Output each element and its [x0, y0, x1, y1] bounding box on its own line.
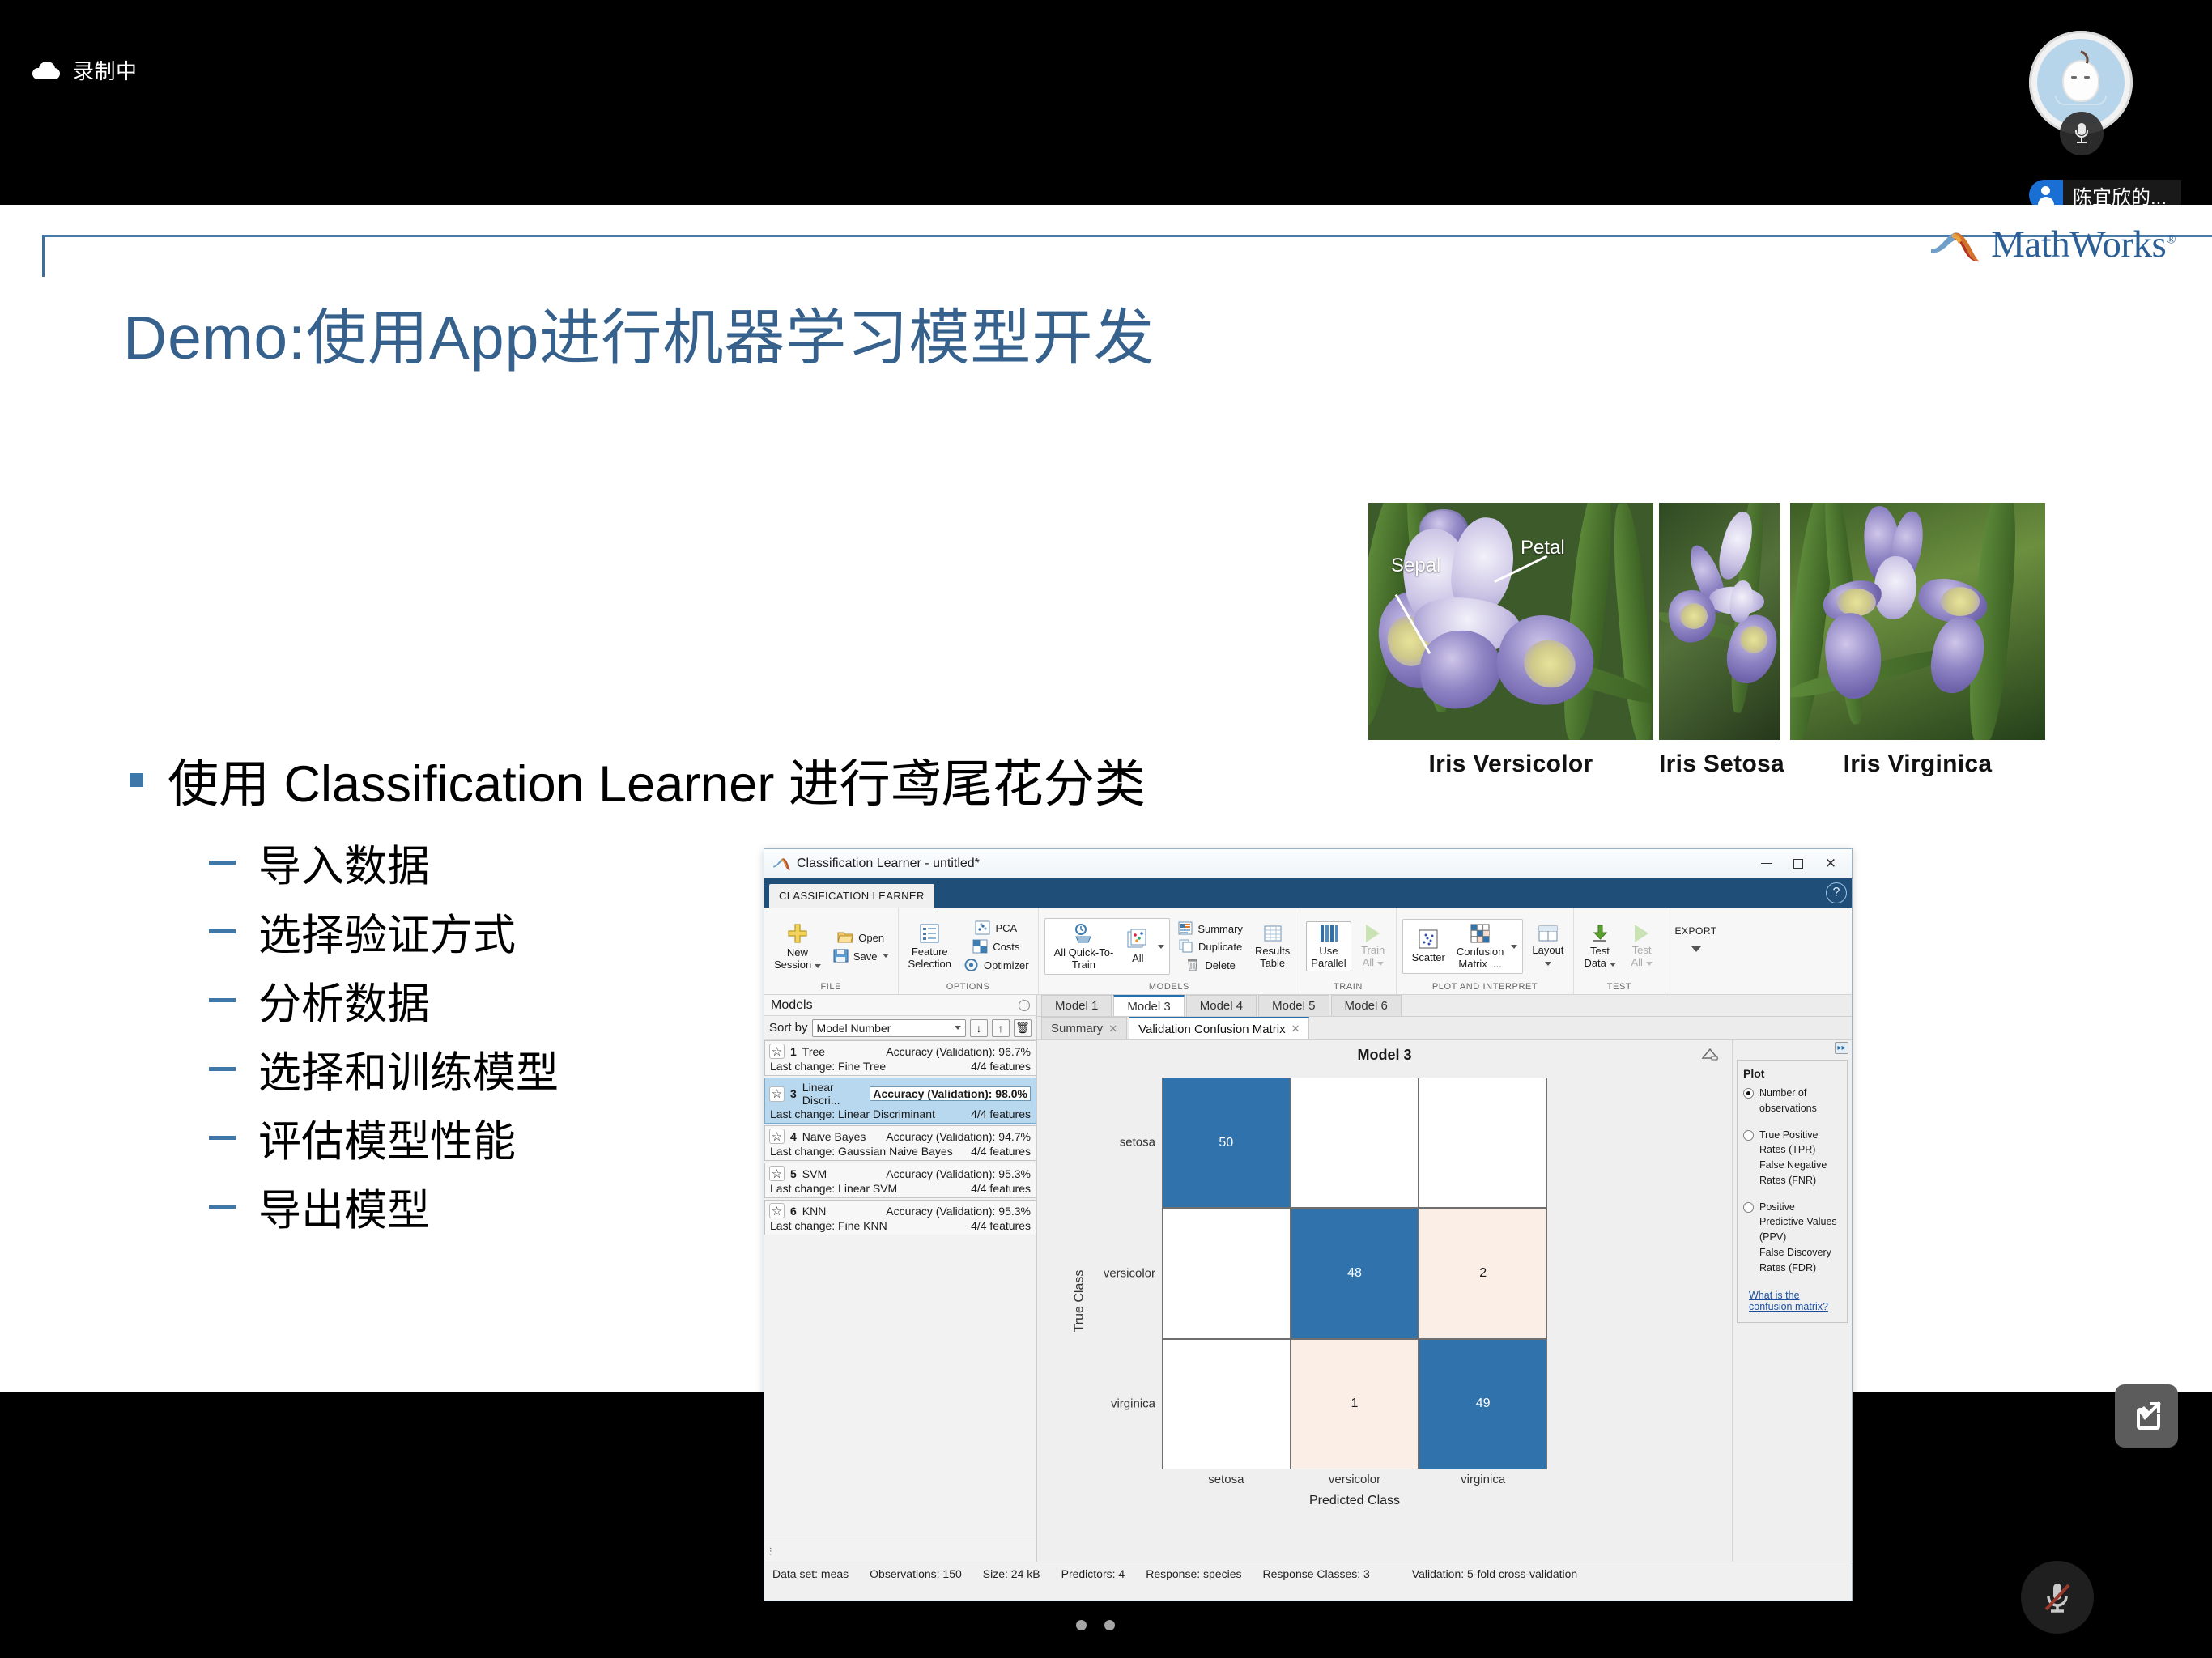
train-all-label: TrainAll [1361, 945, 1385, 968]
model-features: 4/4 features [971, 1145, 1031, 1158]
tab-validation-confusion-matrix[interactable]: Validation Confusion Matrix ✕ [1129, 1017, 1309, 1039]
pca-scatter-icon [975, 920, 990, 935]
page-title: Demo:使用App进行机器学习模型开发 [123, 288, 1155, 376]
radio-tpr-fnr[interactable]: True Positive Rates (TPR) False Negative… [1743, 1128, 1841, 1188]
star-outline-icon[interactable]: ☆ [769, 1086, 785, 1102]
ribbon-group-options: FeatureSelection PCA [899, 908, 1039, 994]
results-table-button[interactable]: ResultsTable [1251, 922, 1294, 971]
sort-by-label: Sort by [769, 1021, 808, 1035]
tab-label: Validation Confusion Matrix [1138, 1022, 1285, 1036]
xtick: versicolor [1291, 1473, 1419, 1486]
radio-number-of-observations[interactable]: Number of observations [1743, 1086, 1841, 1116]
annotate-button[interactable] [2115, 1384, 2178, 1448]
iris-card: Iris Setosa [1659, 503, 1784, 778]
petal-annotation: Petal [1521, 537, 1565, 559]
model-accuracy: Accuracy (Validation): 95.3% [886, 1167, 1031, 1180]
model-accuracy: Accuracy (Validation): 96.7% [886, 1045, 1031, 1058]
model-accuracy: Accuracy (Validation): 98.0% [870, 1086, 1031, 1101]
duplicate-icon [1179, 939, 1193, 953]
ribbon-group-train: UseParallel TrainAll TRAIN [1300, 908, 1396, 994]
star-outline-icon[interactable]: ☆ [769, 1203, 785, 1218]
sort-by-select[interactable]: Model Number [812, 1019, 966, 1037]
ribbon-group-name: OPTIONS [904, 982, 1032, 994]
model-name: Naive Bayes [802, 1130, 880, 1143]
status-dataset: Data set: meas [772, 1567, 849, 1580]
sort-ascending-button[interactable]: ↑ [992, 1019, 1010, 1037]
model-last-change: Last change: Linear Discriminant [770, 1107, 971, 1120]
recording-indicator: 录制中 [32, 55, 138, 85]
ribbon: NewSession Open [764, 908, 1852, 995]
dash-bullet-icon [209, 1067, 236, 1071]
window-title: Classification Learner - untitled* [797, 857, 1750, 871]
test-all-label: TestAll [1631, 945, 1652, 968]
ytick: setosa [1120, 1136, 1155, 1150]
status-response-classes: Response Classes: 3 [1263, 1567, 1370, 1580]
use-parallel-label: UseParallel [1311, 946, 1346, 969]
plot-options-panel: ▸▸ Plot Number of observations [1732, 1040, 1852, 1562]
delete-button[interactable]: Delete [1175, 957, 1246, 973]
dash-bullet-icon [209, 929, 236, 933]
tab-label: Summary [1051, 1022, 1103, 1035]
sort-descending-button[interactable]: ↓ [970, 1019, 988, 1037]
optimizer-button[interactable]: Optimizer [960, 957, 1032, 973]
chevron-down-icon[interactable] [1511, 945, 1517, 949]
list-item: 选择验证方式 [209, 897, 559, 966]
sepal-annotation: Sepal [1391, 555, 1440, 577]
ribbon-group-name: TEST [1580, 982, 1658, 994]
iris-card: Sepal Petal Iris Versicolor [1368, 503, 1653, 778]
ribbon-group-test: TestData TestAll TEST [1574, 908, 1665, 994]
summary-button[interactable]: Summary [1175, 920, 1246, 937]
model-accuracy: Accuracy (Validation): 94.7% [886, 1130, 1031, 1143]
model-accuracy: Accuracy (Validation): 95.3% [886, 1205, 1031, 1218]
list-item: 导入数据 [209, 828, 559, 897]
iris-caption: Iris Setosa [1659, 750, 1784, 778]
list-item[interactable]: ☆ 4 Naive Bayes Accuracy (Validation): 9… [764, 1125, 1036, 1161]
list-item-label: 选择验证方式 [258, 901, 516, 963]
new-session-button[interactable]: NewSession [770, 920, 825, 972]
list-item[interactable]: ☆ 6 KNN Accuracy (Validation): 95.3% Las… [764, 1200, 1036, 1235]
model-number: 3 [790, 1087, 797, 1100]
new-session-label: NewSession [774, 947, 821, 971]
iris-virginica-photo [1790, 503, 2045, 740]
ribbon-group-name: PLOT AND INTERPRET [1402, 982, 1568, 994]
model-features: 4/4 features [971, 1182, 1031, 1195]
chart-title: Model 3 [1037, 1047, 1732, 1064]
list-item[interactable]: ☆ 3 Linear Discri... Accuracy (Validatio… [764, 1078, 1036, 1124]
trash-icon[interactable]: 🗑 [1014, 1019, 1032, 1037]
close-icon[interactable]: ✕ [1814, 850, 1847, 878]
export-label: EXPORT [1675, 926, 1717, 937]
dash-bullet-icon [209, 998, 236, 1002]
confusion-matrix-button[interactable]: ConfusionMatrix ... [1453, 921, 1508, 971]
page-dot[interactable] [1104, 1620, 1115, 1630]
radio-label-line1: True Positive Rates (TPR) [1759, 1129, 1818, 1156]
list-item-label: 评估模型性能 [258, 1107, 516, 1169]
mathworks-logo: MathWorks® [1929, 223, 2176, 266]
model-name: Linear Discri... [802, 1081, 865, 1107]
save-button[interactable]: Save [830, 948, 892, 964]
app-workarea: Models Sort by Model Number ↓ ↑ 🗑 [764, 995, 1852, 1562]
radio-label-line1: Positive Predictive Values (PPV) [1759, 1201, 1837, 1243]
all-models-label: All [1132, 953, 1143, 965]
play-icon [1366, 925, 1380, 942]
radio-label-line2: False Discovery Rates (FDR) [1759, 1247, 1831, 1273]
matrix-cell: 2 [1419, 1208, 1547, 1338]
matlab-membrane-icon [772, 857, 790, 871]
export-button[interactable]: EXPORT [1671, 922, 1721, 954]
list-item-label: 导出模型 [258, 1176, 430, 1238]
page-dot[interactable] [1076, 1620, 1087, 1630]
tab-model-3[interactable]: Model 3 [1113, 995, 1184, 1016]
status-response: Response: species [1146, 1567, 1241, 1580]
models-panel: Models Sort by Model Number ↓ ↑ 🗑 [764, 995, 1037, 1562]
document-area: Model 1 Model 3 Model 4 Model 5 Model 6 … [1037, 995, 1852, 1562]
star-outline-icon[interactable]: ☆ [769, 1166, 785, 1181]
microphone-icon [2060, 112, 2104, 155]
radio-icon [1743, 1130, 1754, 1141]
chevron-down-icon [955, 1026, 961, 1030]
confusion-matrix-icon [1469, 923, 1491, 944]
radio-icon [1743, 1202, 1754, 1213]
document-tabstrip: Summary ✕ Validation Confusion Matrix ✕ [1037, 1017, 1852, 1040]
iris-setosa-photo [1659, 503, 1780, 740]
star-outline-icon[interactable]: ☆ [769, 1129, 785, 1144]
ytick: virginica [1111, 1397, 1155, 1411]
play-icon [1635, 925, 1648, 942]
slide-decorative-frame [42, 235, 2212, 277]
models-sort-bar: Sort by Model Number ↓ ↑ 🗑 [764, 1016, 1036, 1040]
all-models-button[interactable]: All [1121, 926, 1155, 967]
model-last-change: Last change: Linear SVM [770, 1182, 971, 1195]
classification-learner-window: Classification Learner - untitled* ✕ CLA… [764, 848, 1853, 1601]
iris-card: Iris Virginica [1790, 503, 2045, 778]
test-data-button[interactable]: TestData [1580, 922, 1619, 971]
status-validation: Validation: 5-fold cross-validation [1412, 1567, 1577, 1580]
ribbon-group-name: MODELS [1044, 982, 1295, 994]
plot-options-title: Plot [1743, 1067, 1841, 1080]
cloud-icon [32, 62, 60, 79]
model-name: Tree [802, 1045, 880, 1058]
folder-open-icon [837, 930, 853, 944]
list-item[interactable]: ☆ 5 SVM Accuracy (Validation): 95.3% Las… [764, 1163, 1036, 1198]
expand-panel-icon[interactable]: ▸▸ [1835, 1042, 1848, 1054]
confusion-matrix-label: ConfusionMatrix ... [1457, 946, 1504, 970]
chevron-down-icon[interactable] [1691, 946, 1701, 952]
chart-xlabel: Predicted Class [1162, 1494, 1547, 1508]
chart-yticks: setosa versicolor virginica [1071, 1078, 1160, 1469]
collapse-dot-icon[interactable] [1019, 1000, 1030, 1011]
delete-label: Delete [1205, 960, 1236, 972]
mathworks-wordmark: MathWorks® [1991, 223, 2176, 266]
radio-label-line2: False Negative Rates (FNR) [1759, 1159, 1827, 1186]
model-number: 6 [790, 1205, 797, 1218]
test-all-button[interactable]: TestAll [1625, 923, 1659, 970]
close-icon[interactable]: ✕ [1291, 1022, 1300, 1035]
meeting-screen-share: 录制中 陈宜欣的... [0, 0, 2212, 1658]
summary-label: Summary [1197, 924, 1243, 936]
list-item[interactable]: ☆ 1 Tree Accuracy (Validation): 96.7% La… [764, 1040, 1036, 1076]
all-quick-to-train-label: All Quick-To-Train [1054, 947, 1114, 971]
duplicate-button[interactable]: Duplicate [1175, 938, 1246, 954]
chevron-down-icon[interactable] [1158, 945, 1164, 949]
chart-xticks: setosa versicolor virginica [1162, 1473, 1547, 1486]
mute-microphone-button[interactable] [2021, 1561, 2094, 1634]
models-panel-title: Models [771, 998, 1019, 1013]
square-bullet-icon [130, 773, 143, 787]
what-is-confusion-matrix-link[interactable]: What is the confusion matrix? [1749, 1290, 1836, 1312]
help-question-icon[interactable]: ? [1826, 882, 1847, 903]
save-label: Save [853, 951, 878, 963]
optimizer-gear-icon [963, 958, 979, 972]
train-all-button[interactable]: TrainAll [1356, 923, 1390, 970]
ribbon-group-export: EXPORT [1665, 908, 1852, 994]
sub-bullet-list: 导入数据 选择验证方式 分析数据 选择和训练模型 评估模型性能 导出模型 [209, 828, 559, 1241]
test-data-download-icon [1590, 924, 1610, 943]
scatter-button[interactable]: Scatter [1408, 927, 1449, 966]
model-number: 1 [790, 1045, 797, 1058]
sort-by-value: Model Number [817, 1022, 955, 1035]
tab-summary[interactable]: Summary ✕ [1041, 1017, 1127, 1039]
test-data-label: TestData [1584, 946, 1615, 969]
model-tabstrip: Model 1 Model 3 Model 4 Model 5 Model 6 [1037, 995, 1852, 1017]
model-last-change: Last change: Gaussian Naive Bayes [770, 1145, 971, 1158]
list-item-label: 选择和训练模型 [258, 1039, 559, 1100]
bullet-main-label: 使用 Classification Learner 进行鸢尾花分类 [168, 743, 1146, 817]
costs-label: Costs [993, 942, 1019, 954]
iris-caption: Iris Versicolor [1368, 750, 1653, 778]
slide-page-indicator [1076, 1620, 1115, 1630]
matrix-cell: 48 [1291, 1208, 1419, 1338]
export-chart-icon[interactable] [1701, 1047, 1719, 1061]
matrix-cell: 50 [1162, 1078, 1291, 1208]
parallel-bars-icon [1318, 924, 1339, 943]
recording-label: 录制中 [73, 55, 138, 85]
participant-tile[interactable]: 陈宜欣的... [1979, 31, 2181, 209]
list-item-label: 导入数据 [258, 832, 430, 894]
iris-caption: Iris Virginica [1790, 750, 2045, 778]
quick-train-icon [1071, 922, 1095, 945]
matrix-cell [1162, 1339, 1291, 1469]
scatter-plot-icon [1417, 929, 1440, 950]
status-predictors: Predictors: 4 [1061, 1567, 1125, 1580]
feature-selection-button[interactable]: FeatureSelection [904, 921, 955, 971]
ytick: versicolor [1104, 1267, 1155, 1281]
model-number: 4 [790, 1130, 797, 1143]
microphone-muted-icon [2036, 1576, 2078, 1618]
maximize-icon[interactable] [1782, 850, 1814, 878]
model-last-change: Last change: Fine KNN [770, 1219, 971, 1232]
model-name: SVM [802, 1167, 880, 1180]
iris-species-figure: Sepal Petal Iris Versicolor [1368, 503, 2097, 778]
open-button[interactable]: Open [830, 929, 892, 946]
pca-button[interactable]: PCA [960, 920, 1032, 936]
chevron-down-icon[interactable] [883, 954, 889, 958]
xtick: virginica [1419, 1473, 1547, 1486]
tab-model-5[interactable]: Model 5 [1258, 995, 1329, 1016]
results-table-label: ResultsTable [1255, 946, 1290, 969]
iris-versicolor-photo: Sepal Petal [1368, 503, 1653, 740]
list-item: 选择和训练模型 [209, 1035, 559, 1103]
matlab-membrane-icon [1929, 225, 1981, 264]
model-last-change: Last change: Fine Tree [770, 1060, 971, 1073]
plot-area: Model 3 True Class setosa versicolor vir… [1037, 1040, 1852, 1562]
list-item: 分析数据 [209, 966, 559, 1035]
list-item: 评估模型性能 [209, 1103, 559, 1172]
matrix-cell [1291, 1078, 1419, 1208]
duplicate-label: Duplicate [1198, 942, 1242, 954]
all-quick-to-train-button[interactable]: All Quick-To-Train [1050, 920, 1118, 972]
ribbon-tabstrip: CLASSIFICATION LEARNER ? [764, 878, 1852, 908]
pca-label: PCA [995, 923, 1017, 935]
layout-icon [1538, 925, 1559, 942]
radio-icon [1743, 1088, 1754, 1099]
dash-bullet-icon [209, 1205, 236, 1209]
results-table-icon [1263, 924, 1283, 943]
ribbon-group-models: All Quick-To-Train All [1039, 908, 1301, 994]
summary-icon [1178, 921, 1193, 935]
dash-bullet-icon [209, 861, 236, 865]
ribbon-group-plot-and-interpret: Scatter [1397, 908, 1575, 994]
use-parallel-button[interactable]: UseParallel [1306, 921, 1351, 971]
layout-label: Layout [1532, 945, 1563, 968]
model-number: 5 [790, 1167, 797, 1180]
open-label: Open [858, 933, 884, 945]
slide-canvas: MathWorks® Demo:使用App进行机器学习模型开发 [0, 205, 2212, 1392]
save-disk-icon [833, 949, 849, 963]
models-panel-header: Models [764, 995, 1036, 1016]
tab-classification-learner[interactable]: CLASSIFICATION LEARNER [769, 884, 934, 908]
tab-model-4[interactable]: Model 4 [1186, 995, 1257, 1016]
list-item-label: 分析数据 [258, 970, 430, 1031]
trash-icon [1185, 958, 1200, 971]
minimize-icon[interactable] [1750, 850, 1782, 878]
window-titlebar: Classification Learner - untitled* ✕ [764, 849, 1852, 878]
bullet-main: 使用 Classification Learner 进行鸢尾花分类 [130, 743, 1146, 817]
tab-model-6[interactable]: Model 6 [1331, 995, 1402, 1016]
plus-icon [786, 922, 809, 945]
costs-grid-icon [972, 939, 988, 954]
confusion-matrix-chart: Model 3 True Class setosa versicolor vir… [1037, 1040, 1732, 1562]
close-icon[interactable]: ✕ [1108, 1022, 1117, 1035]
matrix-cell: 1 [1291, 1339, 1419, 1469]
matrix-cell [1162, 1208, 1291, 1338]
models-panel-footer: ⫶ [764, 1541, 1036, 1562]
feature-selection-label: FeatureSelection [908, 946, 951, 970]
radio-label: Number of observations [1759, 1086, 1841, 1116]
dash-bullet-icon [209, 1136, 236, 1140]
status-bar: Data set: meas Observations: 150 Size: 2… [764, 1562, 1852, 1584]
list-item: 导出模型 [209, 1172, 559, 1241]
feature-list-icon [919, 923, 940, 944]
model-features: 4/4 features [971, 1107, 1031, 1120]
model-name: KNN [802, 1205, 880, 1218]
star-outline-icon[interactable]: ☆ [769, 1044, 785, 1059]
optimizer-label: Optimizer [984, 960, 1029, 972]
ribbon-group-file: NewSession Open [764, 908, 899, 994]
ribbon-group-name: TRAIN [1306, 982, 1389, 994]
confusion-matrix-grid: 50 48 2 1 49 [1162, 1078, 1547, 1469]
tab-model-1[interactable]: Model 1 [1041, 995, 1112, 1016]
matrix-cell [1419, 1078, 1547, 1208]
ribbon-group-name: FILE [770, 982, 892, 994]
scatter-label: Scatter [1412, 952, 1445, 964]
model-features: 4/4 features [971, 1060, 1031, 1073]
all-models-icon [1125, 928, 1150, 950]
costs-button[interactable]: Costs [960, 938, 1032, 954]
matrix-cell: 49 [1419, 1339, 1547, 1469]
xtick: setosa [1162, 1473, 1291, 1486]
radio-ppv-fdr[interactable]: Positive Predictive Values (PPV) False D… [1743, 1200, 1841, 1276]
model-features: 4/4 features [971, 1219, 1031, 1232]
status-size: Size: 24 kB [983, 1567, 1040, 1580]
status-observations: Observations: 150 [870, 1567, 962, 1580]
layout-button[interactable]: Layout [1528, 923, 1568, 970]
annotate-pen-icon [2127, 1397, 2166, 1435]
models-list: ☆ 1 Tree Accuracy (Validation): 96.7% La… [764, 1040, 1036, 1237]
